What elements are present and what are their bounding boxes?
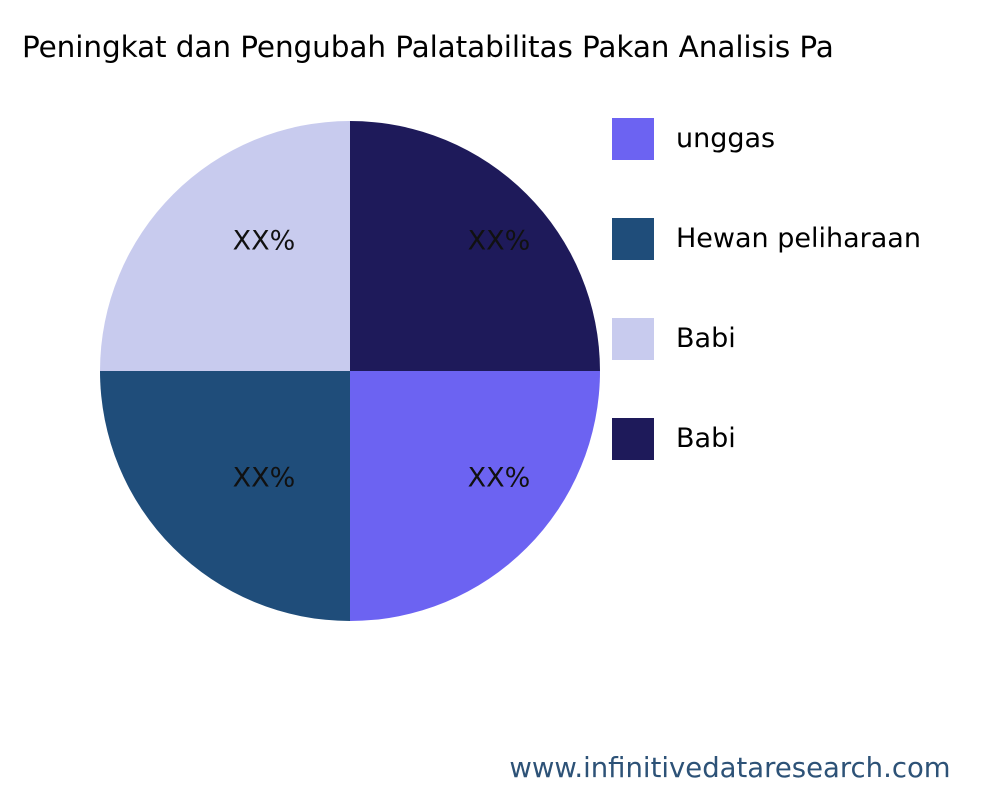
pie-slice-top-left[interactable] [100,121,350,371]
legend-item-unggas[interactable]: unggas [612,118,1000,160]
pie-slice-bottom-left[interactable] [100,371,350,621]
legend-label: unggas [676,118,775,160]
legend: unggas Hewan peliharaan Babi Babi [612,118,1000,518]
pie-slice-label-top-left: XX% [233,226,296,257]
legend-item-babi-light[interactable]: Babi [612,318,1000,360]
pie-slice-label-bottom-right: XX% [468,463,531,494]
pie-slice-bottom-right[interactable] [350,371,600,621]
pie-chart: XX% XX% XX% XX% [100,121,600,621]
legend-label: Babi [676,318,736,360]
pie-chart-svg: XX% XX% XX% XX% [100,121,600,621]
pie-slice-label-top-right: XX% [468,226,531,257]
source-url[interactable]: www.infinitivedataresearch.com [0,752,1000,784]
legend-swatch-icon [612,318,654,360]
legend-swatch-icon [612,218,654,260]
legend-swatch-icon [612,418,654,460]
source-url-text: www.infinitivedataresearch.com [509,752,950,784]
legend-swatch-icon [612,118,654,160]
legend-label: Babi [676,418,736,460]
legend-item-babi-dark[interactable]: Babi [612,418,1000,460]
pie-slice-label-bottom-left: XX% [233,463,296,494]
legend-item-hewan-peliharaan[interactable]: Hewan peliharaan [612,218,1000,260]
legend-label: Hewan peliharaan [676,218,921,260]
page-title: Peningkat dan Pengubah Palatabilitas Pak… [22,27,1000,67]
